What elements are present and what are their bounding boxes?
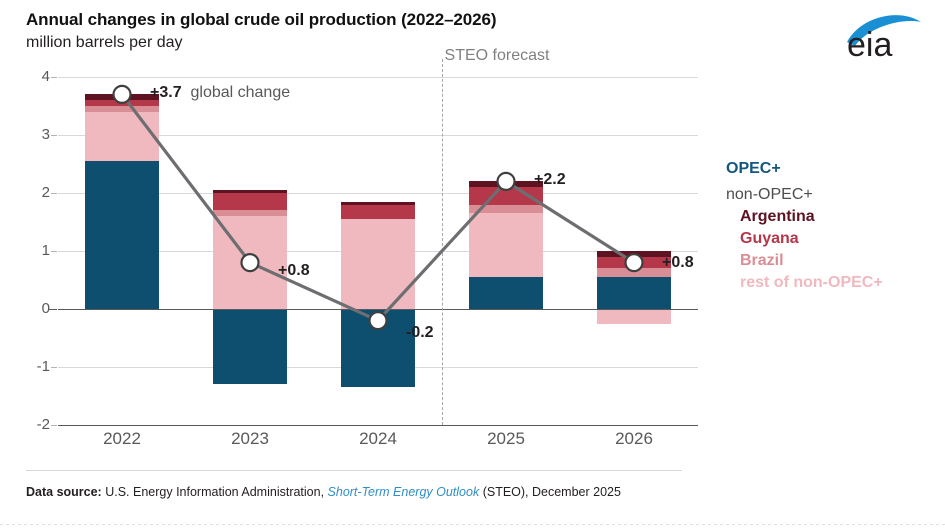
bar-segment-brazil	[469, 205, 543, 214]
point-label-2026: +0.8	[662, 254, 694, 272]
ylabel-4: 4	[10, 68, 50, 85]
eia-logo: eia	[841, 8, 927, 60]
legend-item-rest-of-non-opec[interactable]: rest of non-OPEC+	[726, 272, 941, 294]
footer-divider	[26, 470, 682, 471]
x-axis-label-2022: 2022	[103, 429, 141, 449]
point-label-2024: -0.2	[406, 324, 434, 342]
bar-segment-rest-of-non-opec	[213, 216, 287, 309]
ytick-4	[51, 77, 57, 78]
bar-segment-brazil	[213, 210, 287, 216]
ylabel-neg2: -2	[10, 416, 50, 433]
bar-segment-guyana	[469, 187, 543, 204]
data-source-suffix: (STEO), December 2025	[479, 485, 621, 499]
bar-segment-guyana	[341, 205, 415, 220]
bar-segment-rest-of-non-opec	[597, 309, 671, 324]
bar-segment-opec	[469, 277, 543, 309]
legend-item-brazil[interactable]: Brazil	[726, 250, 941, 272]
global-change-note: global change	[182, 84, 291, 101]
forecast-label: STEO forecast	[445, 47, 550, 65]
point-label-2025: +2.2	[534, 171, 566, 189]
bar-segment-brazil	[597, 268, 671, 277]
x-axis-label-2024: 2024	[359, 429, 397, 449]
data-source-note: Data source: U.S. Energy Information Adm…	[26, 485, 621, 499]
x-axis-label-2023: 2023	[231, 429, 269, 449]
ytick-3	[51, 135, 57, 136]
bar-segment-rest-of-non-opec	[341, 219, 415, 309]
bar-segment-guyana	[85, 100, 159, 106]
data-source-prefix: Data source:	[26, 485, 102, 499]
chart-container: Annual changes in global crude oil produ…	[0, 0, 945, 532]
bar-segment-argentina	[85, 94, 159, 100]
point-label-2023: +0.8	[278, 262, 310, 280]
legend-item-opec[interactable]: OPEC+	[726, 158, 941, 180]
bar-segment-opec	[213, 309, 287, 384]
ylabel-2: 2	[10, 184, 50, 201]
x-axis-label-2026: 2026	[615, 429, 653, 449]
legend-item-guyana[interactable]: Guyana	[726, 228, 941, 250]
bar-segment-brazil	[85, 106, 159, 112]
ylabel-1: 1	[10, 242, 50, 259]
chart-title: Annual changes in global crude oil produ…	[26, 10, 496, 30]
ytick-0	[49, 309, 57, 310]
bar-segment-opec	[341, 309, 415, 387]
bar-segment-guyana	[597, 257, 671, 269]
bar-segment-guyana	[213, 193, 287, 210]
bar-2022[interactable]	[85, 77, 159, 425]
bar-segment-rest-of-non-opec	[85, 112, 159, 161]
legend-item-non-opec[interactable]: non-OPEC+	[726, 184, 941, 206]
ylabel-0: 0	[10, 300, 50, 317]
bar-segment-argentina	[469, 181, 543, 187]
point-label-2022: +3.7 global change	[150, 84, 290, 102]
ylabel-neg1: -1	[10, 358, 50, 375]
legend: OPEC+ non-OPEC+ Argentina Guyana Brazil …	[726, 158, 941, 294]
bar-2024[interactable]	[341, 77, 415, 425]
ylabel-3: 3	[10, 126, 50, 143]
zero-axis-line	[58, 309, 698, 310]
bar-2026[interactable]	[597, 77, 671, 425]
bar-2023[interactable]	[213, 77, 287, 425]
bar-2025[interactable]	[469, 77, 543, 425]
chart-subtitle: million barrels per day	[26, 34, 183, 52]
bar-segment-opec	[85, 161, 159, 309]
data-source-link[interactable]: Short-Term Energy Outlook	[328, 485, 480, 499]
ytick-neg1	[51, 367, 57, 368]
x-axis-label-2025: 2025	[487, 429, 525, 449]
bar-segment-argentina	[597, 251, 671, 257]
bar-segment-rest-of-non-opec	[469, 213, 543, 277]
plot-area: 4 3 2 1 0 -1 -2 STEO forecast +3.7 globa…	[58, 77, 698, 425]
ytick-2	[51, 193, 57, 194]
page-bottom-rule	[0, 524, 945, 525]
forecast-divider	[442, 59, 443, 425]
ytick-neg2	[51, 425, 57, 426]
bar-segment-opec	[597, 277, 671, 309]
svg-text:eia: eia	[847, 26, 892, 60]
ytick-1	[51, 251, 57, 252]
data-source-body: U.S. Energy Information Administration,	[102, 485, 328, 499]
bar-segment-argentina	[341, 202, 415, 205]
bar-segment-argentina	[213, 190, 287, 193]
legend-item-argentina[interactable]: Argentina	[726, 206, 941, 228]
gridline-neg2	[58, 425, 698, 426]
